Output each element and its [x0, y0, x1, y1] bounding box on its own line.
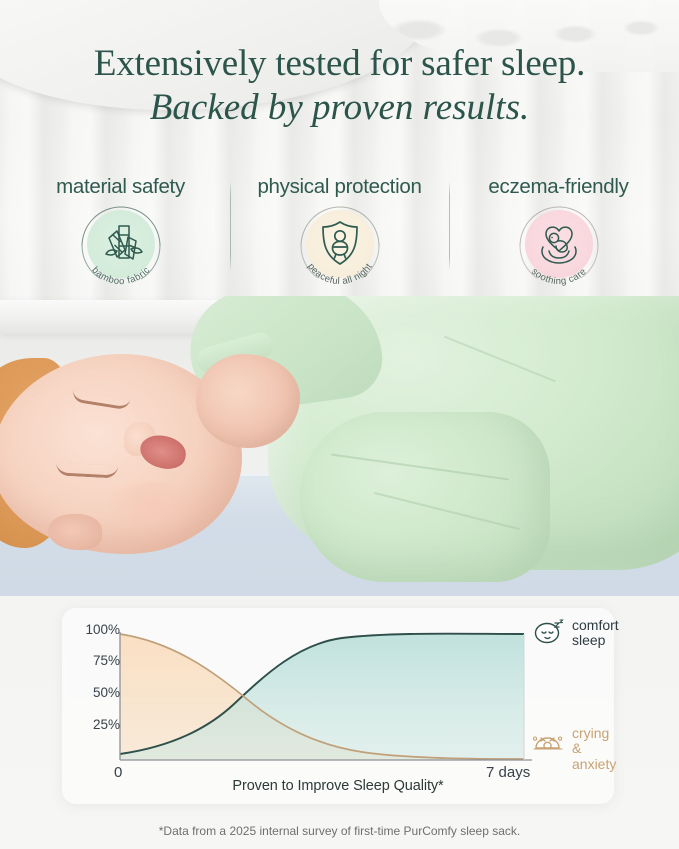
headline-line-1: Extensively tested for safer sleep. — [0, 44, 679, 83]
bamboo-icon — [95, 217, 147, 269]
shield-baby-icon — [314, 217, 366, 269]
badge-physical-protection: physical protection peaceful all night — [231, 175, 449, 292]
badge-art: bamboo fabric — [71, 206, 171, 292]
crying-baby-face-icon — [532, 726, 566, 754]
y-tick-50: 50% — [93, 685, 120, 700]
infographic-stage: Extensively tested for safer sleep. Back… — [0, 0, 679, 849]
badge-art: peaceful all night — [290, 206, 390, 292]
legend-comfort-line-2: sleep — [572, 633, 619, 648]
feature-badges: material safety bamboo fabric — [0, 175, 679, 293]
badge-arc-label: soothing care — [529, 266, 589, 287]
sleeping-baby-photo — [0, 296, 679, 596]
footnote: *Data from a 2025 internal survey of fir… — [0, 824, 679, 838]
headline: Extensively tested for safer sleep. Back… — [0, 44, 679, 127]
legend-comfort-label: comfort sleep — [572, 618, 619, 649]
y-tick-25: 25% — [93, 717, 120, 732]
badge-material-safety: material safety bamboo fabric — [12, 175, 230, 292]
sleeping-baby-face-icon — [532, 618, 566, 646]
legend-crying-line-1: crying — [572, 726, 628, 741]
headline-line-2: Backed by proven results. — [0, 88, 679, 127]
badge-title: material safety — [12, 175, 230, 199]
legend-crying-label: crying & anxiety — [572, 726, 628, 772]
sleep-quality-chart: 100% 75% 50% 25% 0 7 days Proven to Impr… — [62, 608, 614, 804]
y-axis-labels: 100% 75% 50% 25% — [72, 622, 120, 762]
svg-text:soothing care: soothing care — [529, 266, 589, 287]
badge-eczema-friendly: eczema-friendly soothing care — [450, 175, 668, 292]
badge-title: physical protection — [231, 175, 449, 199]
chart-title: Proven to Improve Sleep Quality* — [62, 778, 614, 794]
hands-heart-baby-icon — [533, 217, 585, 269]
baby-cheek — [104, 482, 200, 538]
badge-title: eczema-friendly — [450, 175, 668, 199]
legend-crying-line-2: & anxiety — [572, 741, 628, 772]
legend-comfort-line-1: comfort — [572, 618, 619, 633]
baby-sleep-sack-leg — [300, 412, 550, 582]
badge-art: soothing care — [509, 206, 609, 292]
y-tick-75: 75% — [93, 653, 120, 668]
y-tick-100: 100% — [85, 622, 120, 637]
